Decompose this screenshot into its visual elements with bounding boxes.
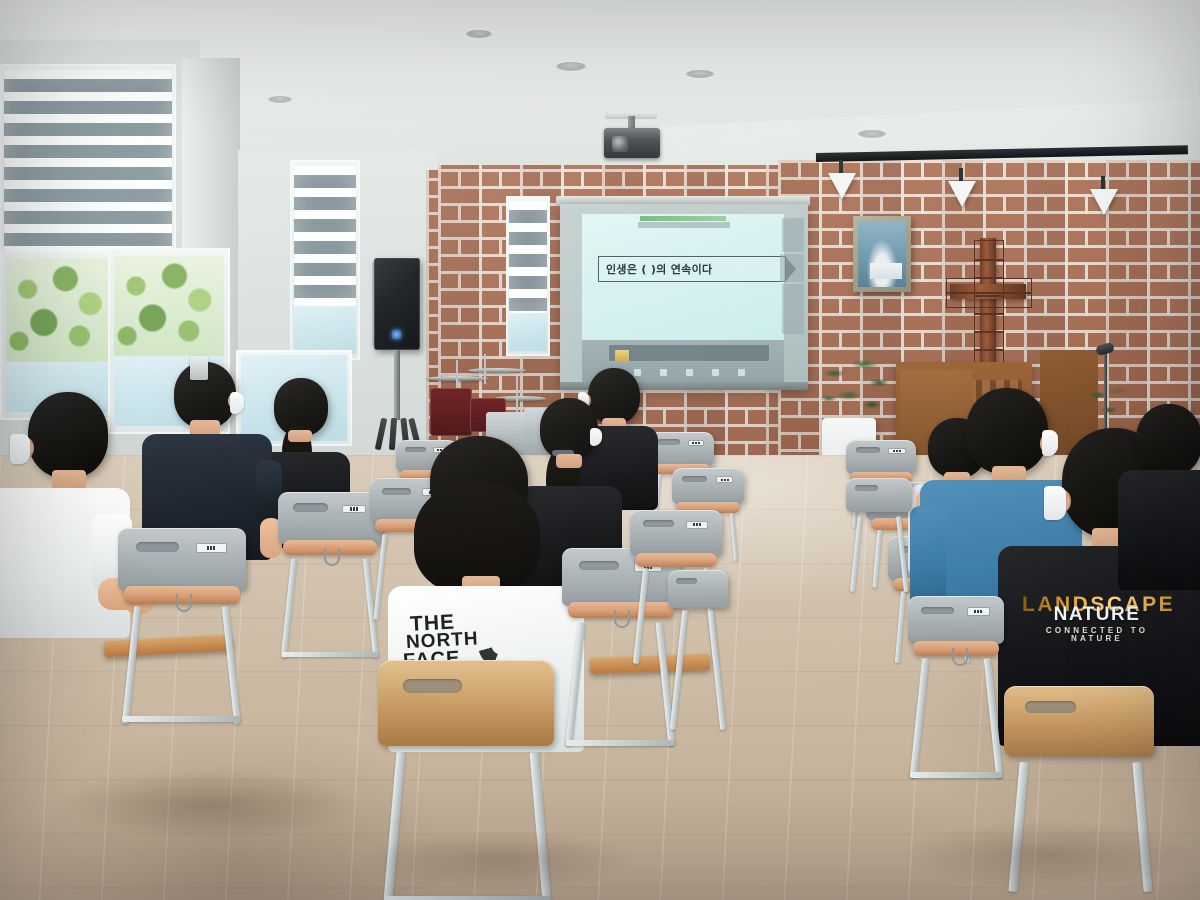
classroom-photo: 인생은 ( )의 연속이다 xyxy=(0,0,1200,900)
floor-shadow xyxy=(900,820,1200,890)
speaker-led-icon xyxy=(392,330,401,339)
slide-toolbar-row xyxy=(638,222,730,228)
slide-text: 인생은 ( )의 연속이다 xyxy=(599,261,712,277)
face-mask xyxy=(1042,430,1058,456)
slide-canvas: 인생은 ( )의 연속이다 xyxy=(582,214,784,340)
face-mask xyxy=(10,434,30,464)
potted-plant-foliage xyxy=(820,350,892,428)
neck xyxy=(556,454,582,468)
projection-screen[interactable]: 인생은 ( )의 연속이다 xyxy=(560,204,808,390)
slide-textbox: 인생은 ( )의 연속이다 xyxy=(598,256,786,282)
chair-label xyxy=(197,544,225,552)
chair-label xyxy=(343,506,366,513)
file-icon xyxy=(615,350,629,362)
face-mask xyxy=(1044,486,1066,520)
picture-artwork xyxy=(858,221,906,287)
slide-side-panel xyxy=(782,284,804,334)
slide-side-panel xyxy=(780,254,804,282)
head xyxy=(1136,404,1200,476)
projector-lens-icon xyxy=(612,136,628,152)
head xyxy=(28,392,108,478)
downlight xyxy=(466,30,492,38)
window-foliage-view xyxy=(6,258,114,362)
nature-line-3: CONNECTED TO NATURE xyxy=(1022,627,1172,643)
hair-clip xyxy=(190,356,208,380)
tom-drum xyxy=(430,388,472,436)
framed-wall-picture xyxy=(853,216,911,292)
slide-side-panel xyxy=(782,218,804,252)
landscape-nature-logo: LANDSCAPE NATURE CONNECTED TO NATURE xyxy=(1022,594,1172,656)
window-back-narrow xyxy=(506,196,550,356)
blind-back[interactable] xyxy=(509,201,547,313)
downlight xyxy=(268,96,292,103)
cross-ladder-arm xyxy=(946,278,1032,308)
head xyxy=(966,388,1048,474)
chair-label xyxy=(968,608,989,614)
chair-label xyxy=(689,441,704,445)
downlight xyxy=(686,70,714,78)
slide-toolbar-ribbon xyxy=(640,216,726,221)
arm xyxy=(910,506,946,610)
window-glass xyxy=(509,313,547,351)
downlight xyxy=(858,130,886,138)
blind-mid[interactable] xyxy=(294,166,356,306)
window-foliage-view xyxy=(114,256,224,356)
neck xyxy=(288,430,312,442)
floor-shadow xyxy=(360,830,640,890)
chair-label xyxy=(717,477,733,482)
window-glass xyxy=(294,306,356,354)
speaker-stand-pole xyxy=(394,350,400,420)
potted-plant-right xyxy=(1086,380,1134,430)
slide-thumbnail-bar xyxy=(608,344,770,362)
window-mid xyxy=(290,160,360,360)
cymbal xyxy=(468,368,526,373)
chair-label xyxy=(687,522,707,528)
torso xyxy=(1118,470,1200,590)
chair-label xyxy=(889,449,904,453)
floor-shadow xyxy=(60,770,360,840)
downlight xyxy=(556,62,586,71)
